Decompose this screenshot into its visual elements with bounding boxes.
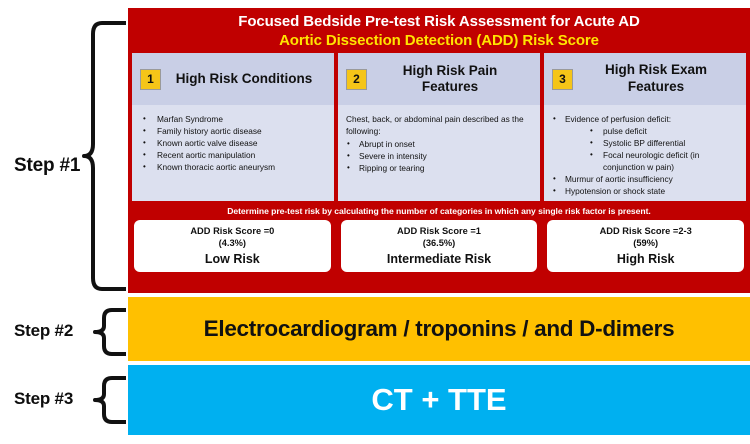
step-2-brace-icon bbox=[92, 306, 126, 358]
score-box-low: ADD Risk Score =0 (4.3%) Low Risk bbox=[134, 220, 331, 271]
panel-title: Focused Bedside Pre-test Risk Assessment… bbox=[128, 8, 750, 53]
step-1-label: Step #1 bbox=[14, 155, 80, 177]
step-3-panel: CT + TTE bbox=[128, 365, 750, 435]
category-1-header: 1 High Risk Conditions bbox=[132, 53, 334, 105]
category-3-title: High Risk Exam Features bbox=[580, 62, 742, 96]
category-1-title: High Risk Conditions bbox=[168, 71, 330, 88]
category-2-title: High Risk Pain Features bbox=[374, 63, 536, 97]
list-item: Known thoracic aortic aneurysm bbox=[137, 161, 329, 173]
category-3-badge: 3 bbox=[552, 69, 573, 90]
list-item: Hypotension or shock state bbox=[549, 185, 741, 197]
title-main: Focused Bedside Pre-test Risk Assessment… bbox=[134, 13, 744, 31]
score-value: ADD Risk Score =1 bbox=[343, 225, 536, 237]
category-3-bullet-list: Evidence of perfusion deficit: bbox=[549, 113, 741, 125]
score-risk-level: Low Risk bbox=[136, 251, 329, 267]
list-item: Abrupt in onset bbox=[343, 138, 535, 150]
score-percent: (36.5%) bbox=[343, 237, 536, 249]
category-3-bullet-list-after: Murmur of aortic insufficiency Hypotensi… bbox=[549, 173, 741, 197]
score-results: ADD Risk Score =0 (4.3%) Low Risk ADD Ri… bbox=[128, 220, 750, 278]
category-2-header: 2 High Risk Pain Features bbox=[338, 53, 540, 105]
category-3-body: Evidence of perfusion deficit: pulse def… bbox=[544, 105, 746, 201]
risk-category-2: 2 High Risk Pain Features Chest, back, o… bbox=[338, 53, 540, 201]
step-2-label: Step #2 bbox=[14, 321, 73, 341]
step-2-panel: Electrocardiogram / troponins / and D-di… bbox=[128, 297, 750, 361]
score-risk-level: Intermediate Risk bbox=[343, 251, 536, 267]
score-risk-level: High Risk bbox=[549, 251, 742, 267]
score-value: ADD Risk Score =2-3 bbox=[549, 225, 742, 237]
title-subtitle: Aortic Dissection Detection (ADD) Risk S… bbox=[134, 32, 744, 50]
step-3-text: CT + TTE bbox=[371, 382, 506, 418]
category-3-header: 3 High Risk Exam Features bbox=[544, 53, 746, 105]
score-box-high: ADD Risk Score =2-3 (59%) High Risk bbox=[547, 220, 744, 271]
list-item: Known aortic valve disease bbox=[137, 137, 329, 149]
list-item: Murmur of aortic insufficiency bbox=[549, 173, 741, 185]
step-1-panel: Focused Bedside Pre-test Risk Assessment… bbox=[128, 8, 750, 293]
category-1-bullet-list: Marfan Syndrome Family history aortic di… bbox=[137, 113, 329, 173]
list-item: pulse deficit bbox=[587, 125, 741, 137]
list-item: Marfan Syndrome bbox=[137, 113, 329, 125]
score-percent: (59%) bbox=[549, 237, 742, 249]
category-2-bullet-list: Abrupt in onset Severe in intensity Ripp… bbox=[343, 138, 535, 174]
category-2-badge: 2 bbox=[346, 69, 367, 90]
risk-categories: 1 High Risk Conditions Marfan Syndrome F… bbox=[128, 53, 750, 201]
step-3-brace-icon bbox=[92, 374, 126, 426]
list-item: Recent aortic manipulation bbox=[137, 149, 329, 161]
category-2-intro: Chest, back, or abdominal pain described… bbox=[346, 113, 535, 137]
category-3-sub-bullet-list: pulse deficit Systolic BP differential F… bbox=[587, 125, 741, 173]
step-2-text: Electrocardiogram / troponins / and D-di… bbox=[204, 316, 675, 342]
list-item: Family history aortic disease bbox=[137, 125, 329, 137]
step-1-brace-icon bbox=[82, 18, 126, 294]
list-item: Systolic BP differential bbox=[587, 137, 741, 149]
list-item: Focal neurologic deficit (in conjunction… bbox=[587, 149, 741, 173]
risk-category-1: 1 High Risk Conditions Marfan Syndrome F… bbox=[132, 53, 334, 201]
list-item: Severe in intensity bbox=[343, 150, 535, 162]
list-item: Ripping or tearing bbox=[343, 162, 535, 174]
score-box-intermediate: ADD Risk Score =1 (36.5%) Intermediate R… bbox=[341, 220, 538, 271]
category-1-body: Marfan Syndrome Family history aortic di… bbox=[132, 105, 334, 201]
determine-instruction: Determine pre-test risk by calculating t… bbox=[128, 201, 750, 220]
list-item: Evidence of perfusion deficit: bbox=[549, 113, 741, 125]
score-percent: (4.3%) bbox=[136, 237, 329, 249]
risk-category-3: 3 High Risk Exam Features Evidence of pe… bbox=[544, 53, 746, 201]
step-3-label: Step #3 bbox=[14, 389, 73, 409]
score-value: ADD Risk Score =0 bbox=[136, 225, 329, 237]
category-1-badge: 1 bbox=[140, 69, 161, 90]
category-2-body: Chest, back, or abdominal pain described… bbox=[338, 105, 540, 201]
